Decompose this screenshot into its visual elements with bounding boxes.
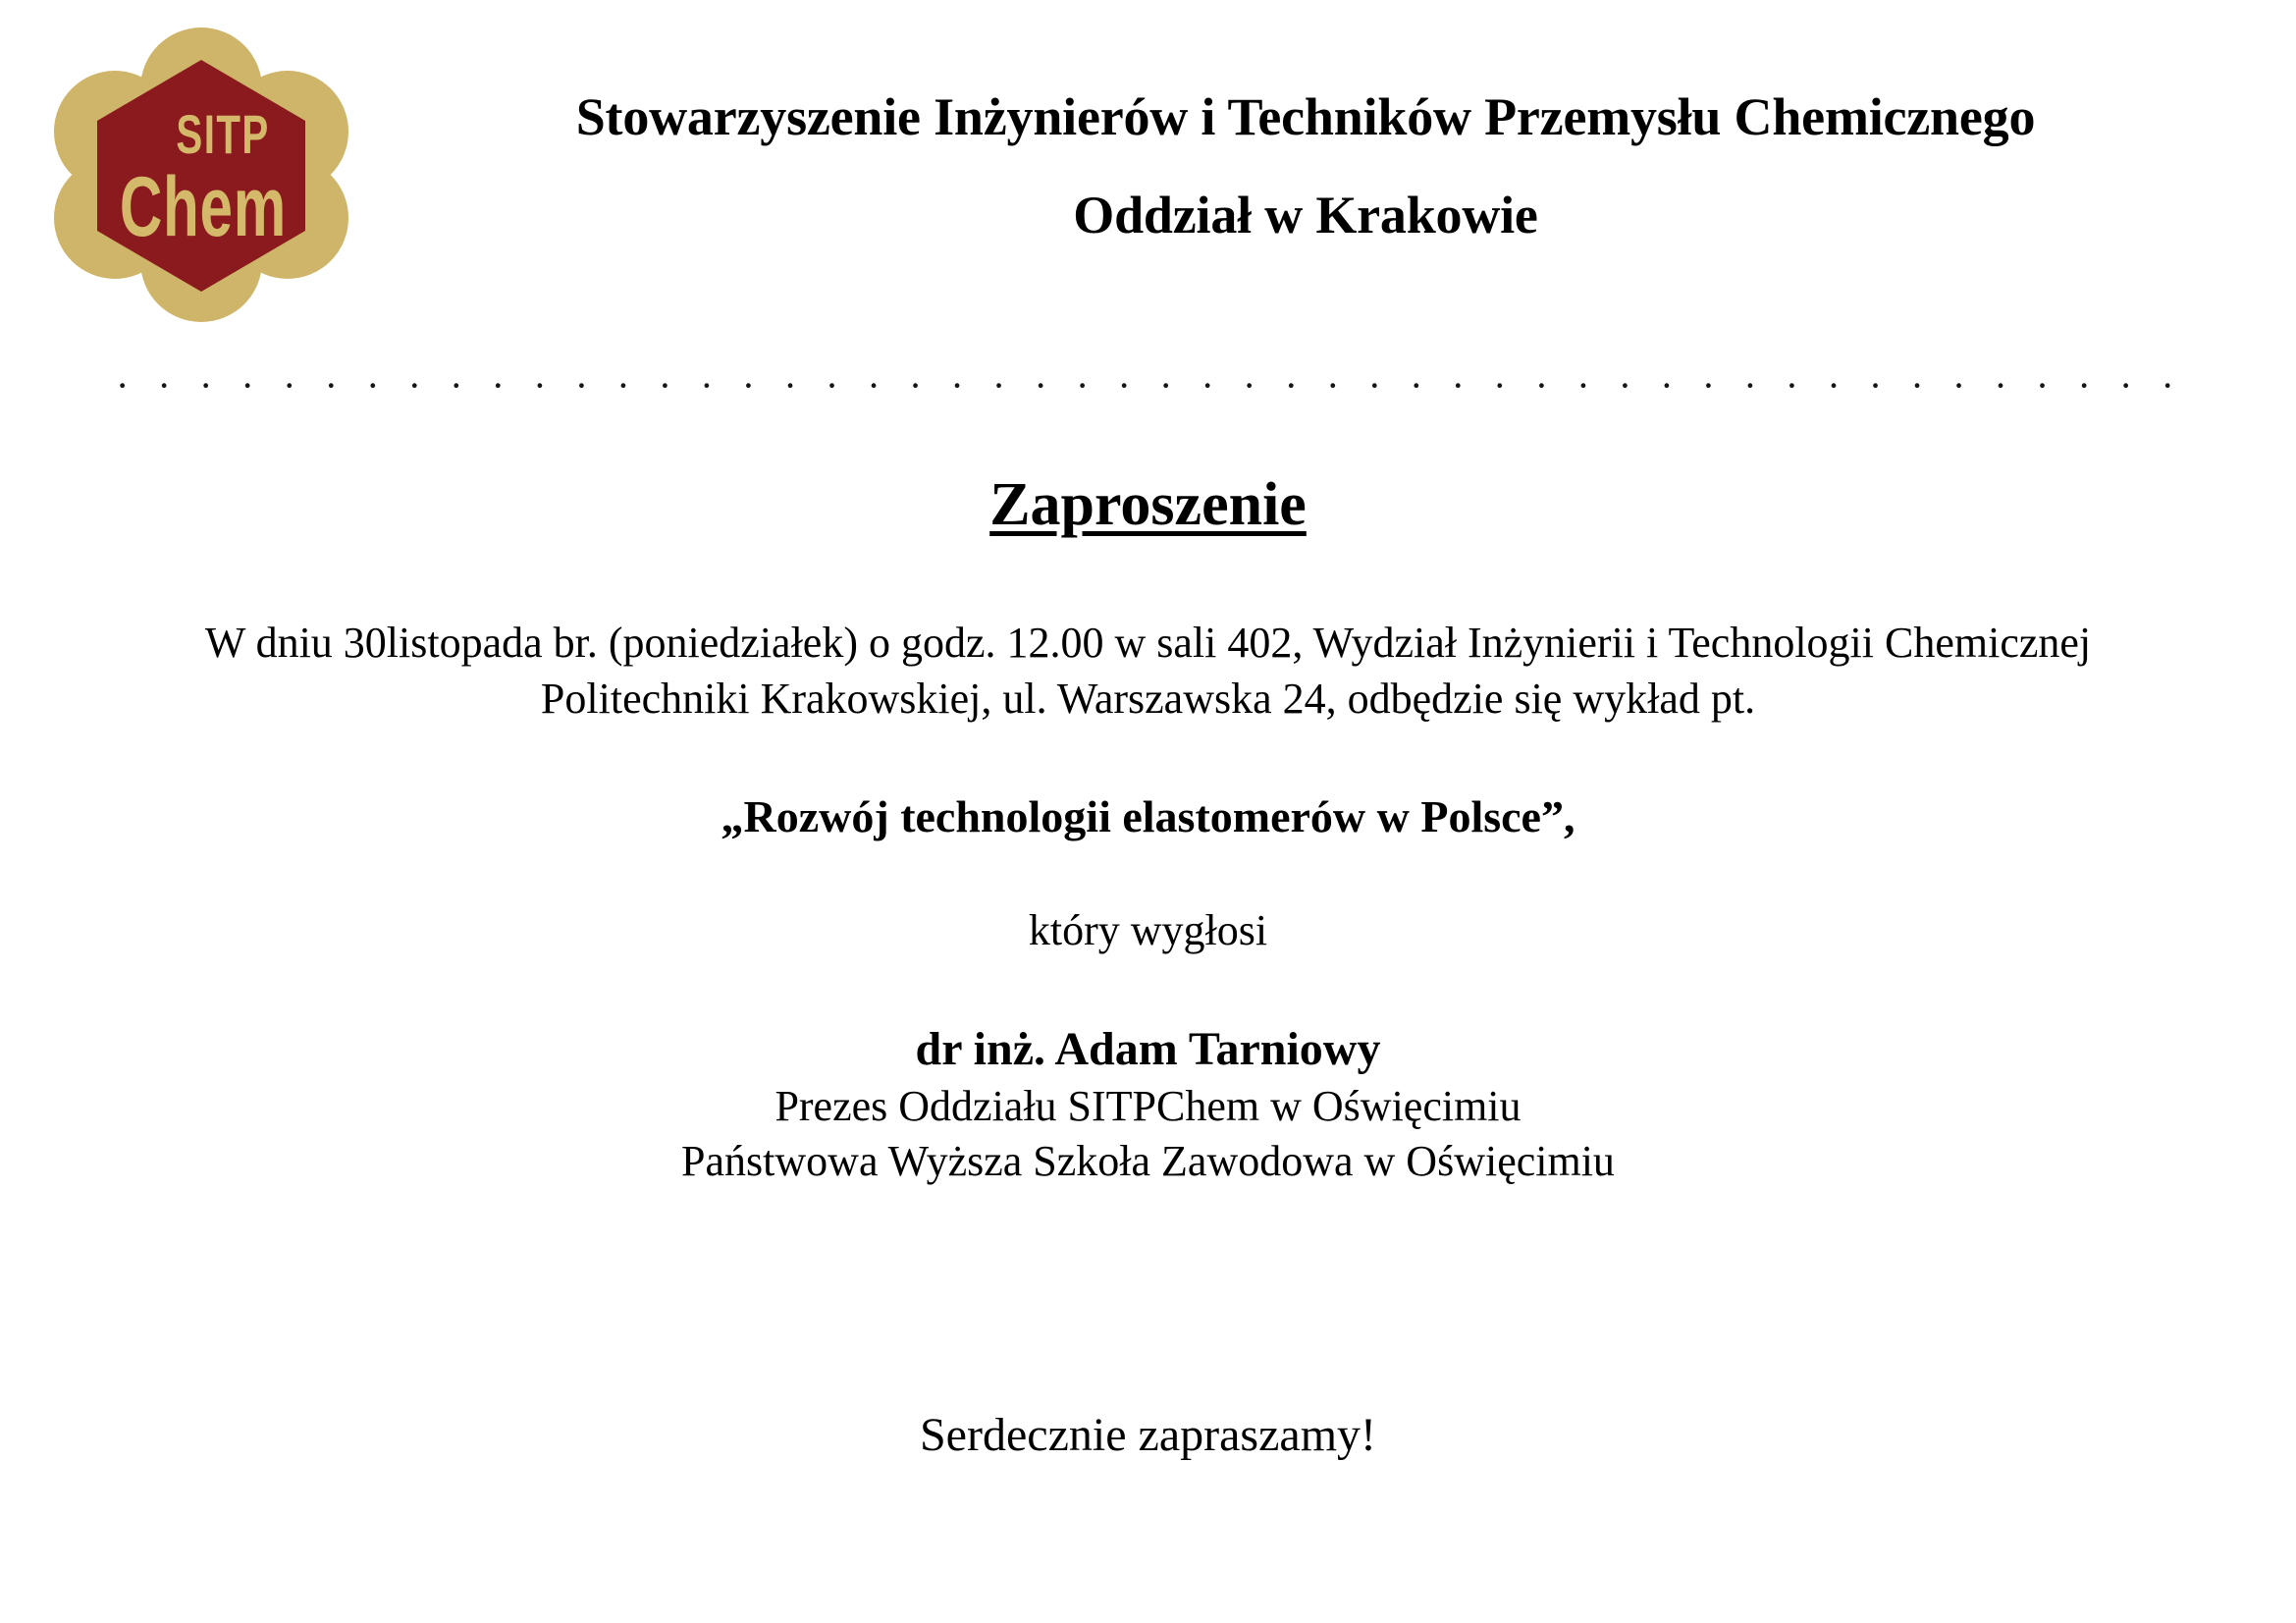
sitpchem-logo: SITP Chem [54, 27, 348, 322]
intro-line-1: W dniu 30listopada br. (poniedziałek) o … [0, 615, 2296, 671]
closing-line: Serdecznie zapraszamy! [0, 1406, 2296, 1465]
lecture-title-comma: , [1564, 791, 1575, 841]
document-body: Zaproszenie W dniu 30listopada br. (poni… [0, 447, 2296, 1465]
organization-title-block: Stowarzyszenie Inżynierów i Techników Pr… [353, 90, 2258, 242]
intro-line-2: Politechniki Krakowskiej, ul. Warszawska… [0, 671, 2296, 727]
svg-text:Chem: Chem [120, 159, 287, 253]
speaker-affiliation-2: Państwowa Wyższa Szkoła Zawodowa w Oświę… [0, 1134, 2296, 1189]
document-header: SITP Chem Stowarzyszenie Inżynierów i Te… [0, 0, 2296, 353]
speaker-affiliation-1: Prezes Oddziału SITPChem w Oświęcimiu [0, 1079, 2296, 1134]
spacer [0, 538, 2296, 615]
organization-name: Stowarzyszenie Inżynierów i Techników Pr… [353, 90, 2258, 143]
spacer [0, 957, 2296, 1020]
presenter-intro: który wygłosi [0, 903, 2296, 957]
spacer [0, 728, 2296, 788]
organization-branch: Oddział w Krakowie [353, 189, 2258, 242]
svg-text:SITP: SITP [176, 105, 269, 166]
page-title: Zaproszenie [0, 447, 2296, 538]
lecture-title: „Rozwój technologii elastomerów w Polsce… [721, 791, 1564, 841]
spacer [0, 1190, 2296, 1406]
spacer [0, 844, 2296, 903]
lecture-title-row: „Rozwój technologii elastomerów w Polsce… [0, 788, 2296, 845]
dotted-divider: · · · · · · · · · · · · · · · · · · · · … [116, 375, 2177, 397]
speaker-name: dr inż. Adam Tarniowy [0, 1020, 2296, 1079]
